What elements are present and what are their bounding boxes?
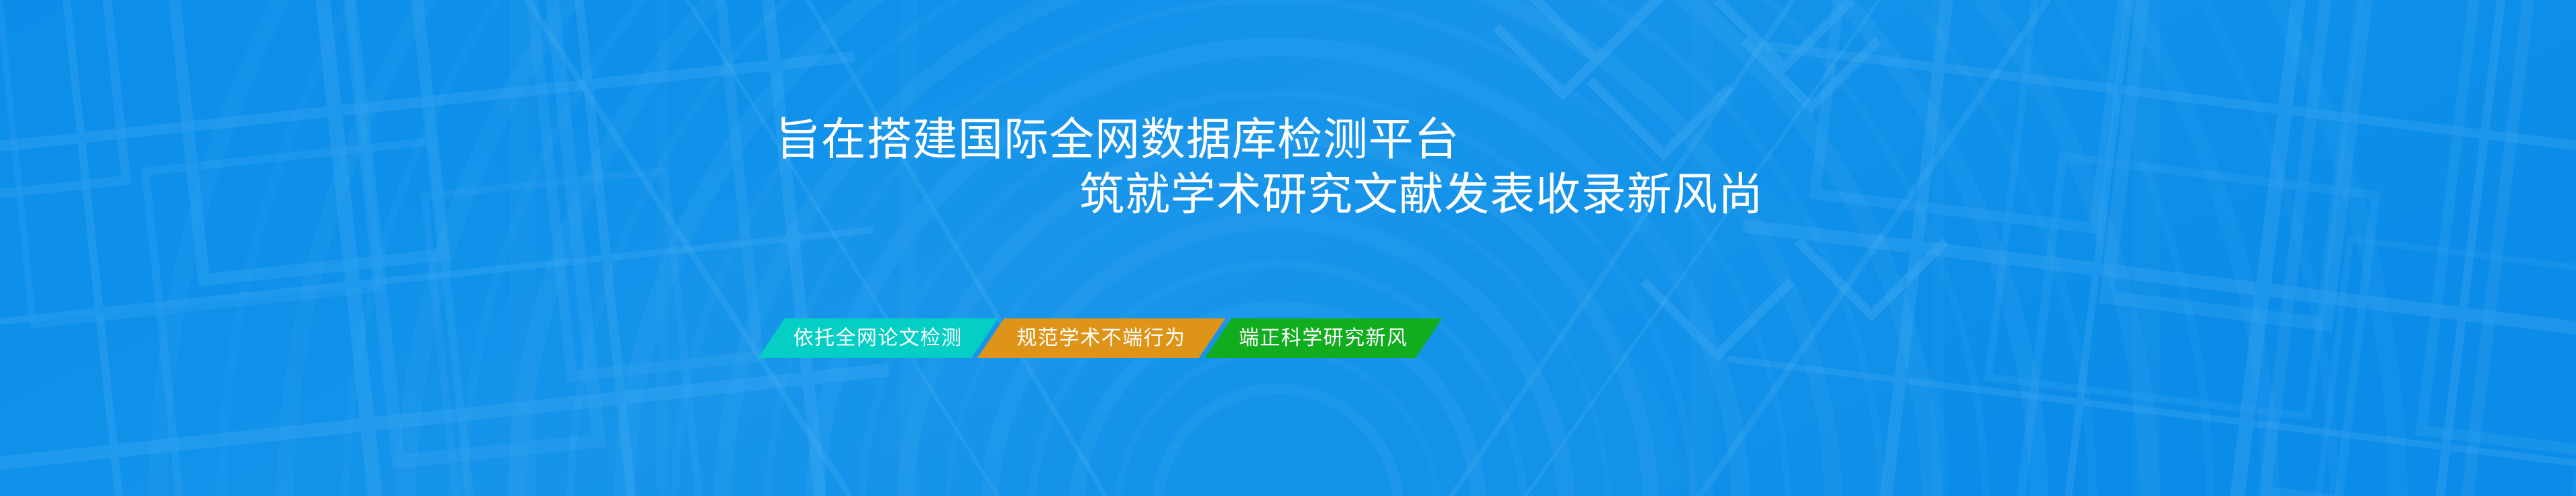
background-pattern-svg bbox=[0, 0, 2576, 496]
background-decoration bbox=[0, 0, 2576, 496]
vertical-ribbons bbox=[510, 0, 2160, 496]
headline-line-1: 旨在搭建国际全网数据库检测平台 bbox=[0, 113, 2576, 168]
concentric-arcs bbox=[158, 0, 2398, 496]
tag-research-ethics[interactable]: 端正科学研究新风 bbox=[1205, 318, 1442, 358]
right-grid-pattern bbox=[1704, 0, 2576, 496]
tag-research-ethics-label: 端正科学研究新风 bbox=[1236, 328, 1411, 349]
tag-academic-misconduct-label: 规范学术不端行为 bbox=[1014, 328, 1189, 349]
background-base bbox=[0, 0, 2576, 496]
promo-banner: 旨在搭建国际全网数据库检测平台 筑就学术研究文献发表收录新风尚 依托全网论文检测… bbox=[0, 0, 2576, 496]
diagonal-streaks bbox=[510, 0, 2066, 496]
left-grid-pattern bbox=[0, 0, 906, 496]
tag-paper-detection[interactable]: 依托全网论文检测 bbox=[758, 318, 998, 358]
headline-block: 旨在搭建国际全网数据库检测平台 筑就学术研究文献发表收录新风尚 bbox=[0, 113, 2576, 223]
headline-line-2: 筑就学术研究文献发表收录新风尚 bbox=[0, 168, 2576, 223]
tag-academic-misconduct[interactable]: 规范学术不端行为 bbox=[977, 318, 1226, 358]
tag-paper-detection-label: 依托全网论文检测 bbox=[791, 328, 965, 349]
feature-tag-strip: 依托全网论文检测 规范学术不端行为 端正科学研究新风 bbox=[771, 318, 1429, 358]
